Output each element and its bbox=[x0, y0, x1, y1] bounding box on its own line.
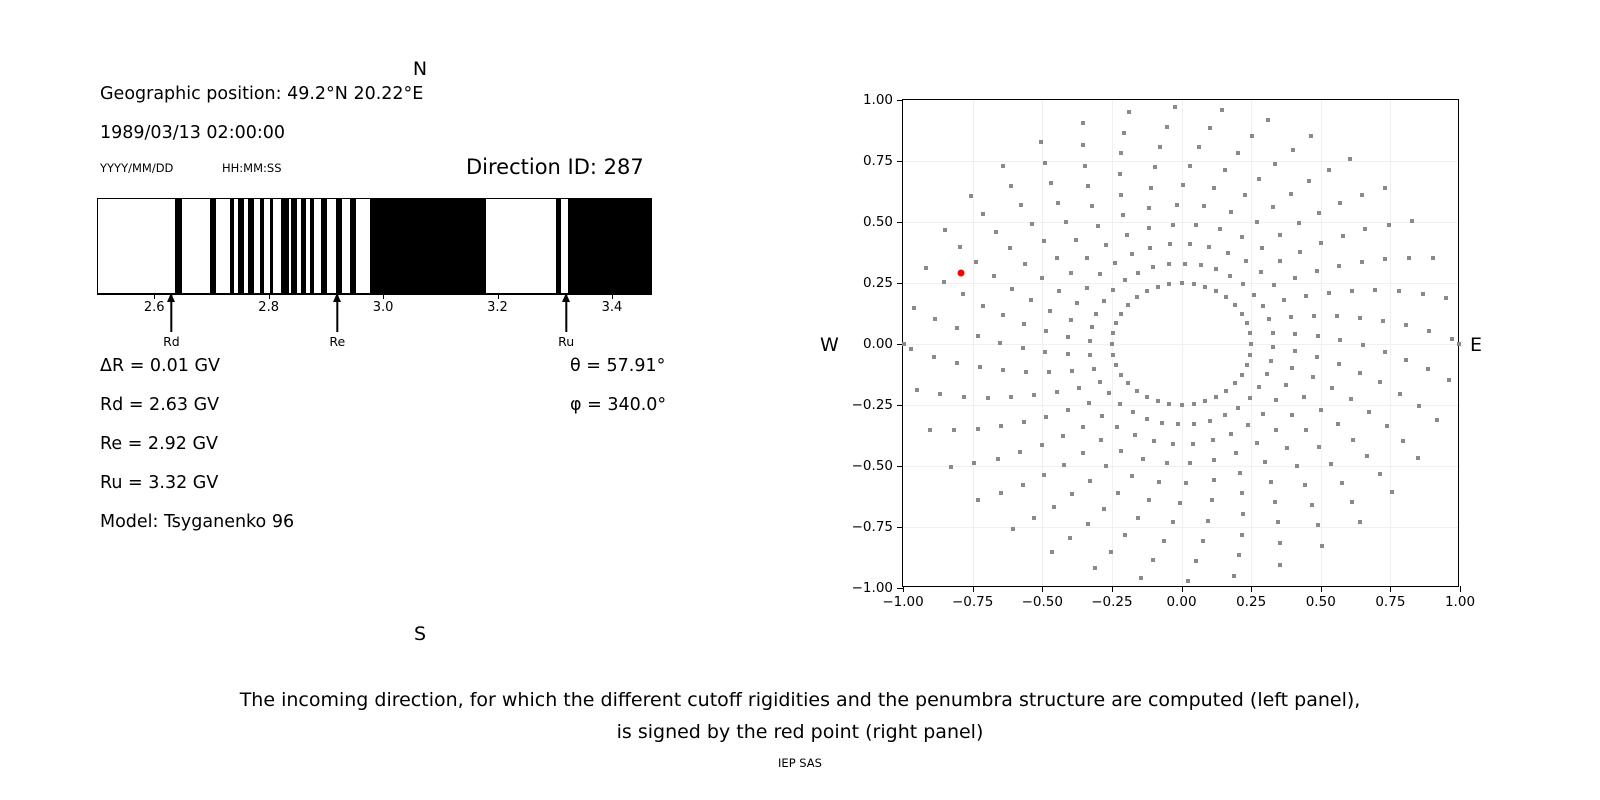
direction-point bbox=[1312, 314, 1316, 318]
direction-point bbox=[1255, 220, 1259, 224]
direction-point bbox=[1009, 395, 1013, 399]
marker-arrowhead-icon bbox=[333, 293, 341, 302]
direction-point bbox=[1378, 380, 1382, 384]
direction-point bbox=[1066, 352, 1070, 356]
direction-point bbox=[1261, 304, 1265, 308]
direction-point bbox=[1011, 527, 1015, 531]
direction-point bbox=[1426, 367, 1430, 371]
direction-point bbox=[1240, 533, 1244, 537]
direction-point bbox=[1330, 386, 1334, 390]
direction-point bbox=[1178, 501, 1182, 505]
direction-point bbox=[1285, 446, 1289, 450]
direction-point bbox=[1141, 457, 1145, 461]
x-axis-tick-label: −0.25 bbox=[1091, 594, 1132, 610]
direction-point bbox=[1119, 373, 1123, 377]
direction-point bbox=[1259, 270, 1263, 274]
direction-point bbox=[958, 245, 962, 249]
direction-point bbox=[1070, 369, 1074, 373]
direction-point bbox=[1077, 386, 1081, 390]
direction-point bbox=[1114, 321, 1118, 325]
direction-point bbox=[1233, 381, 1237, 385]
direction-id-text: Direction ID: 287 bbox=[466, 155, 644, 179]
direction-point bbox=[1316, 523, 1320, 527]
direction-point bbox=[969, 194, 973, 198]
gridline-horizontal bbox=[903, 466, 1458, 467]
direction-point bbox=[1298, 250, 1302, 254]
direction-point bbox=[1021, 346, 1025, 350]
direction-point bbox=[1263, 460, 1267, 464]
direction-point bbox=[1284, 383, 1288, 387]
direction-point bbox=[1293, 332, 1297, 336]
direction-point bbox=[1245, 321, 1249, 325]
direction-point bbox=[1361, 343, 1365, 347]
direction-point bbox=[1042, 239, 1046, 243]
direction-point bbox=[1237, 553, 1241, 557]
direction-point bbox=[1192, 282, 1196, 286]
penumbra-band bbox=[260, 199, 264, 293]
y-axis-tick bbox=[897, 466, 903, 467]
direction-point bbox=[1062, 463, 1066, 467]
direction-point bbox=[998, 341, 1002, 345]
direction-point bbox=[1153, 165, 1157, 169]
direction-point bbox=[1327, 291, 1331, 295]
x-axis-tick bbox=[1390, 586, 1391, 592]
y-axis-tick-label: −1.00 bbox=[852, 580, 893, 596]
direction-point bbox=[909, 347, 913, 351]
direction-point bbox=[1260, 246, 1264, 250]
penumbra-band bbox=[370, 199, 486, 293]
x-axis-tick-label: 0.75 bbox=[1375, 594, 1405, 610]
direction-point bbox=[1208, 419, 1212, 423]
direction-point bbox=[1404, 358, 1408, 362]
penumbra-chart bbox=[97, 198, 652, 294]
direction-point bbox=[1147, 226, 1151, 230]
direction-point bbox=[1214, 289, 1218, 293]
direction-point bbox=[1145, 289, 1149, 293]
direction-point bbox=[938, 392, 942, 396]
parameter-value: ΔR = 0.01 GV bbox=[100, 356, 220, 376]
direction-point bbox=[1212, 186, 1216, 190]
parameter-value: θ = 57.91° bbox=[570, 356, 665, 376]
direction-point bbox=[1152, 439, 1156, 443]
direction-point bbox=[1290, 413, 1294, 417]
direction-point bbox=[1088, 339, 1092, 343]
direction-point bbox=[1047, 370, 1051, 374]
x-axis-tick-label: −1.00 bbox=[882, 594, 923, 610]
direction-point bbox=[1265, 372, 1269, 376]
y-axis-tick-label: −0.50 bbox=[852, 458, 893, 474]
y-axis-tick bbox=[897, 588, 903, 589]
direction-point bbox=[1094, 312, 1098, 316]
direction-point bbox=[1149, 186, 1153, 190]
caption-line-2: is signed by the red point (right panel) bbox=[0, 716, 1600, 748]
direction-point bbox=[1093, 566, 1097, 570]
axis-tick-label: 2.8 bbox=[258, 300, 279, 315]
direction-point bbox=[1226, 251, 1230, 255]
time-format-hint: HH:MM:SS bbox=[222, 161, 282, 175]
direction-point bbox=[1241, 512, 1245, 516]
direction-point bbox=[1199, 263, 1203, 267]
penumbra-band bbox=[556, 199, 562, 293]
direction-point bbox=[1358, 316, 1362, 320]
direction-point bbox=[1145, 395, 1149, 399]
direction-point bbox=[932, 355, 936, 359]
direction-point bbox=[942, 280, 946, 284]
direction-point bbox=[1126, 303, 1130, 307]
direction-point bbox=[1278, 233, 1282, 237]
direction-point bbox=[1044, 329, 1048, 333]
direction-point bbox=[1092, 367, 1096, 371]
direction-point bbox=[1214, 395, 1218, 399]
direction-point bbox=[1119, 193, 1123, 197]
direction-point bbox=[1212, 478, 1216, 482]
direction-point bbox=[1435, 418, 1439, 422]
direction-point bbox=[1052, 505, 1056, 509]
marker-arrowhead-icon bbox=[562, 293, 570, 302]
marker-label: Ru bbox=[558, 334, 574, 349]
direction-point bbox=[1269, 359, 1273, 363]
direction-point bbox=[1104, 243, 1108, 247]
direction-point bbox=[1238, 471, 1242, 475]
direction-point bbox=[1220, 108, 1224, 112]
direction-point bbox=[1188, 164, 1192, 168]
direction-point bbox=[1309, 134, 1313, 138]
direction-point bbox=[1373, 288, 1377, 292]
direction-point bbox=[1176, 422, 1180, 426]
direction-point bbox=[1271, 345, 1275, 349]
direction-point bbox=[1123, 533, 1127, 537]
direction-point bbox=[1207, 245, 1211, 249]
marker-label: Re bbox=[329, 334, 345, 349]
direction-point bbox=[1121, 213, 1125, 217]
direction-point bbox=[1203, 285, 1207, 289]
direction-point bbox=[1269, 480, 1273, 484]
direction-point bbox=[1252, 293, 1256, 297]
direction-point bbox=[1125, 233, 1129, 237]
direction-point bbox=[1088, 479, 1092, 483]
direction-point bbox=[1167, 402, 1171, 406]
direction-point bbox=[1444, 296, 1448, 300]
right-panel: −1.00−0.75−0.50−0.250.000.250.500.751.00… bbox=[760, 0, 1600, 660]
direction-point bbox=[1248, 396, 1252, 400]
gridline-horizontal bbox=[903, 222, 1458, 223]
direction-point bbox=[1107, 391, 1111, 395]
direction-point bbox=[1111, 353, 1115, 357]
gridline-vertical bbox=[973, 100, 974, 586]
direction-point bbox=[1387, 223, 1391, 227]
gridline-horizontal bbox=[903, 161, 1458, 162]
parameter-value: Re = 2.92 GV bbox=[100, 434, 218, 454]
parameter-value: Ru = 3.32 GV bbox=[100, 473, 218, 493]
gridline-horizontal bbox=[903, 527, 1458, 528]
direction-point bbox=[1274, 398, 1278, 402]
direction-point bbox=[1042, 473, 1046, 477]
direction-point bbox=[981, 212, 985, 216]
direction-point bbox=[1066, 408, 1070, 412]
direction-point bbox=[1240, 373, 1244, 377]
direction-point bbox=[961, 292, 965, 296]
direction-scatter-plot: −1.00−0.75−0.50−0.250.000.250.500.751.00… bbox=[902, 99, 1459, 587]
x-axis-tick bbox=[1321, 586, 1322, 592]
direction-point bbox=[1160, 421, 1164, 425]
direction-point bbox=[1040, 443, 1044, 447]
direction-point bbox=[1127, 110, 1131, 114]
direction-point bbox=[976, 498, 980, 502]
direction-point bbox=[1175, 203, 1179, 207]
direction-point bbox=[1162, 539, 1166, 543]
direction-point bbox=[1315, 269, 1319, 273]
direction-point bbox=[1157, 480, 1161, 484]
direction-point bbox=[1290, 366, 1294, 370]
direction-point bbox=[1010, 287, 1014, 291]
direction-point bbox=[1336, 422, 1340, 426]
direction-point bbox=[1407, 256, 1411, 260]
y-axis-tick bbox=[897, 222, 903, 223]
direction-point bbox=[1090, 204, 1094, 208]
direction-point bbox=[1023, 262, 1027, 266]
direction-point bbox=[996, 457, 1000, 461]
direction-point bbox=[1130, 252, 1134, 256]
parameter-value: Model: Tsyganenko 96 bbox=[100, 512, 294, 532]
direction-point bbox=[1229, 432, 1233, 436]
direction-point bbox=[1039, 140, 1043, 144]
marker-label: Rd bbox=[163, 334, 180, 349]
direction-point bbox=[1417, 404, 1421, 408]
penumbra-band bbox=[301, 199, 306, 293]
direction-point bbox=[1188, 461, 1192, 465]
direction-point bbox=[1273, 500, 1277, 504]
direction-point bbox=[912, 306, 916, 310]
penumbra-band bbox=[336, 199, 342, 293]
compass-label-east: E bbox=[1470, 334, 1482, 356]
direction-point bbox=[1066, 335, 1070, 339]
direction-point bbox=[1223, 413, 1227, 417]
direction-point bbox=[1315, 355, 1319, 359]
direction-point bbox=[949, 465, 953, 469]
direction-point bbox=[1383, 257, 1387, 261]
direction-point bbox=[1244, 259, 1248, 263]
direction-point bbox=[1165, 461, 1169, 465]
direction-point bbox=[1043, 161, 1047, 165]
figure-caption: The incoming direction, for which the di… bbox=[0, 684, 1600, 748]
y-axis-tick bbox=[897, 161, 903, 162]
direction-point bbox=[1255, 441, 1259, 445]
direction-point bbox=[1040, 276, 1044, 280]
direction-point bbox=[1240, 312, 1244, 316]
direction-point bbox=[1367, 410, 1371, 414]
direction-point bbox=[1168, 242, 1172, 246]
direction-point bbox=[1248, 353, 1252, 357]
direction-point bbox=[1126, 381, 1130, 385]
direction-point bbox=[1183, 262, 1187, 266]
direction-point bbox=[1240, 235, 1244, 239]
x-axis-tick bbox=[1182, 586, 1183, 592]
direction-point bbox=[1457, 342, 1461, 346]
direction-point bbox=[1068, 536, 1072, 540]
x-axis-tick bbox=[1112, 586, 1113, 592]
direction-point bbox=[1109, 550, 1113, 554]
direction-point bbox=[1099, 438, 1103, 442]
direction-point bbox=[1274, 428, 1278, 432]
direction-point bbox=[999, 491, 1003, 495]
direction-point bbox=[1148, 246, 1152, 250]
x-axis-tick bbox=[1042, 586, 1043, 592]
direction-point bbox=[978, 365, 982, 369]
direction-point bbox=[1192, 422, 1196, 426]
x-axis-tick bbox=[1460, 586, 1461, 592]
direction-point bbox=[1278, 541, 1282, 545]
direction-point bbox=[1304, 428, 1308, 432]
direction-point bbox=[1049, 181, 1053, 185]
direction-point bbox=[1001, 313, 1005, 317]
gridline-vertical bbox=[1042, 100, 1043, 586]
direction-point bbox=[1171, 520, 1175, 524]
direction-point bbox=[1337, 362, 1341, 366]
direction-point bbox=[1156, 285, 1160, 289]
direction-point bbox=[1232, 574, 1236, 578]
direction-point bbox=[1236, 151, 1240, 155]
direction-point bbox=[1201, 539, 1205, 543]
direction-point bbox=[1191, 442, 1195, 446]
selected-direction-point[interactable] bbox=[958, 270, 965, 277]
direction-point bbox=[1397, 289, 1401, 293]
penumbra-bar bbox=[97, 198, 652, 294]
marker-arrowhead-icon bbox=[167, 293, 175, 302]
compass-label-north: N bbox=[413, 58, 427, 80]
direction-point bbox=[928, 428, 932, 432]
direction-point bbox=[1327, 168, 1331, 172]
direction-point bbox=[1304, 294, 1308, 298]
gridline-vertical bbox=[1390, 100, 1391, 586]
direction-point bbox=[1212, 458, 1216, 462]
direction-point bbox=[943, 228, 947, 232]
x-axis-tick-label: 1.00 bbox=[1445, 594, 1475, 610]
direction-point bbox=[1427, 329, 1431, 333]
axis-tick-label: 2.6 bbox=[144, 300, 165, 315]
direction-point bbox=[1192, 402, 1196, 406]
direction-point bbox=[1360, 193, 1364, 197]
direction-point bbox=[1385, 424, 1389, 428]
direction-point bbox=[1139, 576, 1143, 580]
direction-point bbox=[1119, 151, 1123, 155]
left-panel: Geographic position: 49.2°N 20.22°E 1989… bbox=[0, 0, 760, 660]
direction-point bbox=[1224, 295, 1228, 299]
axis-tick-label: 3.0 bbox=[373, 300, 394, 315]
penumbra-band bbox=[238, 199, 244, 293]
datetime-text: 1989/03/13 02:00:00 bbox=[100, 123, 285, 143]
direction-point bbox=[1090, 325, 1094, 329]
direction-point bbox=[1194, 223, 1198, 227]
direction-point bbox=[1075, 301, 1079, 305]
direction-point bbox=[1229, 210, 1233, 214]
gridline-vertical bbox=[1321, 100, 1322, 586]
axis-tick bbox=[154, 294, 155, 299]
direction-point bbox=[1087, 401, 1091, 405]
penumbra-band bbox=[270, 199, 273, 293]
direction-point bbox=[1057, 289, 1061, 293]
direction-point bbox=[1338, 201, 1342, 205]
direction-point bbox=[1100, 414, 1104, 418]
direction-point bbox=[1064, 220, 1068, 224]
direction-point bbox=[1289, 315, 1293, 319]
direction-point bbox=[1110, 342, 1114, 346]
direction-point bbox=[1167, 282, 1171, 286]
direction-point bbox=[1363, 227, 1367, 231]
gridline-horizontal bbox=[903, 344, 1458, 345]
direction-point bbox=[1147, 206, 1151, 210]
direction-point bbox=[1206, 519, 1210, 523]
direction-point bbox=[1022, 420, 1026, 424]
penumbra-band bbox=[281, 199, 288, 293]
direction-point bbox=[1018, 450, 1022, 454]
direction-point bbox=[972, 461, 976, 465]
direction-point bbox=[1319, 241, 1323, 245]
direction-point bbox=[1074, 238, 1078, 242]
y-axis-tick-label: 0.00 bbox=[863, 336, 893, 352]
direction-point bbox=[1335, 314, 1339, 318]
direction-point bbox=[1171, 223, 1175, 227]
direction-point bbox=[1086, 522, 1090, 526]
direction-point bbox=[1069, 271, 1073, 275]
direction-point bbox=[1083, 164, 1087, 168]
direction-point bbox=[1055, 256, 1059, 260]
direction-point bbox=[1340, 481, 1344, 485]
direction-point bbox=[1151, 265, 1155, 269]
axis-tick bbox=[269, 294, 270, 299]
direction-point bbox=[1246, 423, 1250, 427]
direction-point bbox=[1257, 385, 1261, 389]
y-axis-tick-label: −0.75 bbox=[852, 519, 893, 535]
direction-point bbox=[1302, 395, 1306, 399]
direction-point bbox=[1048, 309, 1052, 313]
direction-point bbox=[1278, 563, 1282, 567]
direction-point bbox=[1381, 319, 1385, 323]
direction-point bbox=[1383, 186, 1387, 190]
direction-point bbox=[902, 342, 906, 346]
direction-point bbox=[1180, 281, 1184, 285]
direction-point bbox=[1114, 363, 1118, 367]
direction-point bbox=[1410, 219, 1414, 223]
direction-point bbox=[1240, 491, 1244, 495]
direction-point bbox=[1145, 417, 1149, 421]
direction-point bbox=[1421, 292, 1425, 296]
direction-point bbox=[952, 428, 956, 432]
axis-tick-label: 3.2 bbox=[487, 300, 508, 315]
direction-point bbox=[1180, 403, 1184, 407]
direction-point bbox=[1316, 334, 1320, 338]
direction-point bbox=[1249, 342, 1253, 346]
direction-point bbox=[1173, 105, 1177, 109]
direction-point bbox=[1136, 516, 1140, 520]
direction-point bbox=[1350, 500, 1354, 504]
direction-point bbox=[1131, 410, 1135, 414]
direction-point bbox=[1358, 520, 1362, 524]
direction-point bbox=[1311, 375, 1315, 379]
direction-point bbox=[1276, 520, 1280, 524]
direction-point bbox=[1317, 445, 1321, 449]
direction-point bbox=[976, 334, 980, 338]
direction-point bbox=[1303, 483, 1307, 487]
date-format-hint: YYYY/MM/DD bbox=[100, 161, 173, 175]
direction-point bbox=[1032, 516, 1036, 520]
direction-point bbox=[1224, 389, 1228, 393]
direction-point bbox=[1234, 451, 1238, 455]
direction-point bbox=[1111, 288, 1115, 292]
direction-point bbox=[1291, 148, 1295, 152]
penumbra-band bbox=[350, 199, 356, 293]
x-axis-tick-label: −0.50 bbox=[1022, 594, 1063, 610]
direction-point bbox=[1197, 145, 1201, 149]
